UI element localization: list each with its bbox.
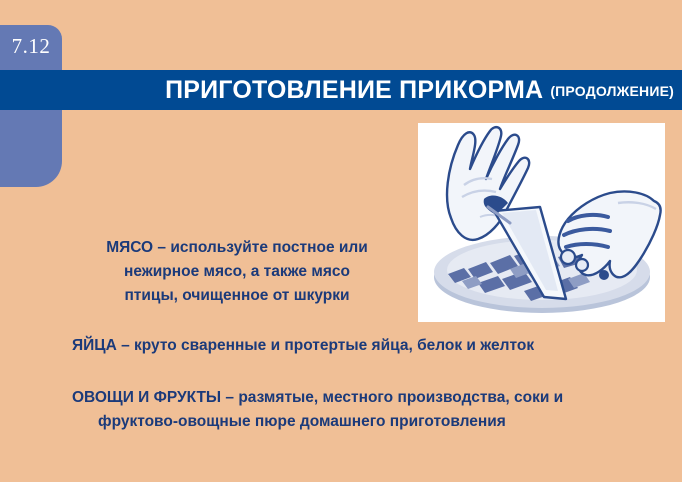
content-body: МЯСО – используйте постное или нежирное … bbox=[72, 236, 668, 434]
paragraph-meat: МЯСО – используйте постное или нежирное … bbox=[72, 236, 402, 308]
title-bar: ПРИГОТОВЛЕНИЕ ПРИКОРМА (ПРОДОЛЖЕНИЕ) bbox=[0, 70, 682, 110]
slide-page: 7.12 ПРИГОТОВЛЕНИЕ ПРИКОРМА (ПРОДОЛЖЕНИЕ… bbox=[0, 0, 682, 482]
paragraph-eggs: ЯЙЦА – круто сваренные и протертые яйца,… bbox=[72, 334, 668, 358]
paragraph-vegetables-fruits: ОВОЩИ И ФРУКТЫ – размятые, местного прои… bbox=[72, 386, 668, 434]
page-number-label: 7.12 bbox=[0, 25, 62, 70]
page-title: ПРИГОТОВЛЕНИЕ ПРИКОРМА bbox=[165, 76, 543, 105]
page-title-continuation: (ПРОДОЛЖЕНИЕ) bbox=[550, 83, 674, 99]
sidebar-accent-block bbox=[0, 110, 62, 187]
page-number-badge: 7.12 bbox=[0, 25, 62, 70]
title-bar-inner: ПРИГОТОВЛЕНИЕ ПРИКОРМА (ПРОДОЛЖЕНИЕ) bbox=[0, 70, 674, 110]
